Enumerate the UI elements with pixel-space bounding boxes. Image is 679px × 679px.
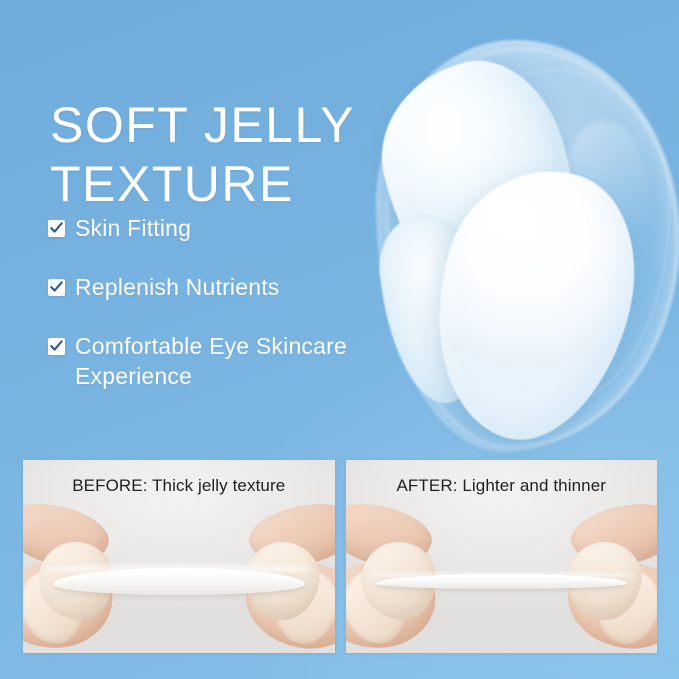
page-title-line-2: TEXTURE — [50, 155, 430, 214]
jelly-strand-highlight — [45, 564, 313, 574]
after-panel-label: AFTER: Lighter and thinner — [346, 476, 658, 496]
feature-label: Replenish Nutrients — [75, 273, 280, 303]
page-title: SOFT JELLY TEXTURE — [50, 96, 430, 214]
feature-list: Skin Fitting Replenish Nutrients Comfort… — [48, 214, 378, 392]
list-item: Skin Fitting — [48, 214, 378, 244]
list-item: Replenish Nutrients — [48, 273, 378, 303]
eye-patch-lower-highlight — [462, 184, 574, 280]
after-panel: AFTER: Lighter and thinner — [346, 460, 658, 653]
gel-gloss-highlight — [560, 120, 650, 300]
jelly-strand-highlight — [368, 572, 636, 578]
checkbox-checked-icon — [48, 338, 65, 355]
feature-label: Skin Fitting — [75, 214, 191, 244]
eye-patch-lower — [404, 147, 662, 461]
eye-patch-upper-tail — [372, 208, 494, 410]
checkbox-checked-icon — [48, 220, 65, 237]
before-panel: BEFORE: Thick jelly texture — [23, 460, 335, 653]
page-title-line-1: SOFT JELLY — [50, 96, 430, 155]
gel-halo-edge-inner — [430, 70, 670, 402]
list-item: Comfortable Eye Skincare Experience — [48, 332, 378, 392]
product-feature-poster: SOFT JELLY TEXTURE Skin Fitting Replenis… — [0, 0, 679, 679]
before-panel-label: BEFORE: Thick jelly texture — [23, 476, 335, 496]
feature-label: Comfortable Eye Skincare Experience — [75, 332, 378, 392]
comparison-panels: BEFORE: Thick jelly texture AFTER: Light… — [23, 460, 657, 653]
checkbox-checked-icon — [48, 279, 65, 296]
